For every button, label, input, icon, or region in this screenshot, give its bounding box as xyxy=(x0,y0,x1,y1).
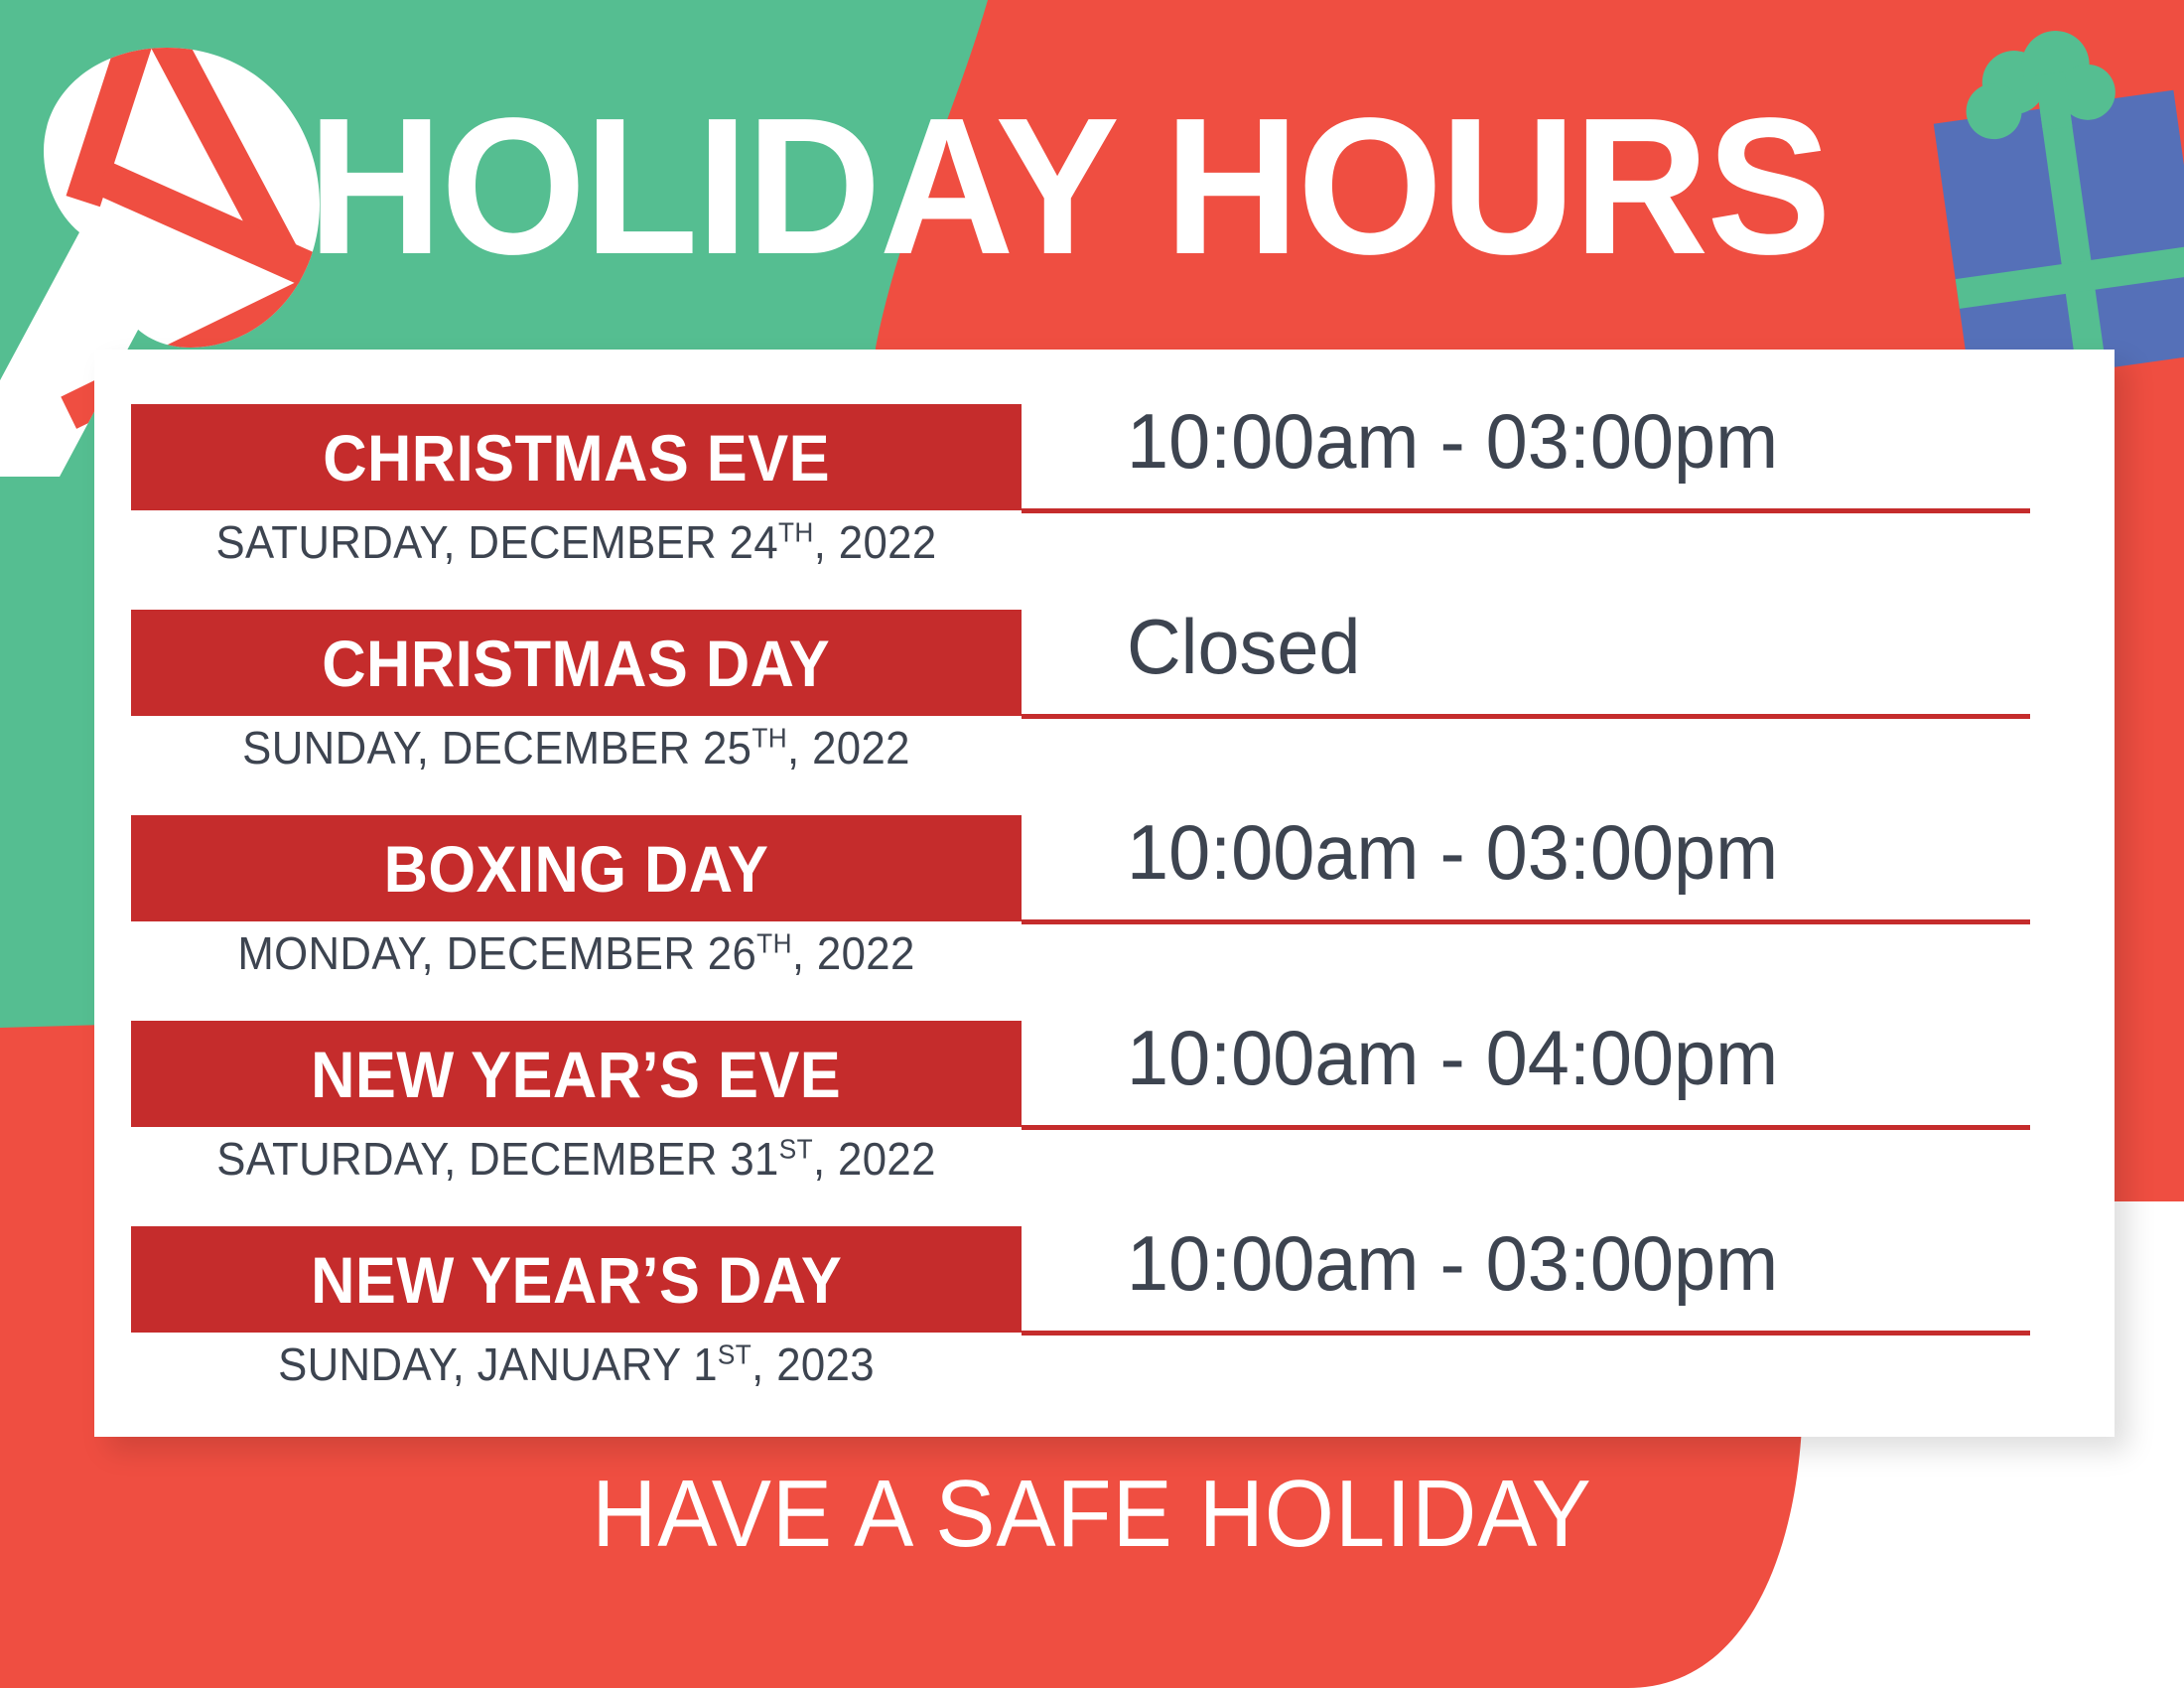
schedule-row: BOXING DAYMONDAY, DECEMBER 26TH, 202210:… xyxy=(94,815,2115,1021)
holiday-hours: 10:00am - 03:00pm xyxy=(1127,396,1778,487)
holiday-date: SUNDAY, DECEMBER 25TH, 2022 xyxy=(153,721,999,774)
holiday-hours: 10:00am - 03:00pm xyxy=(1127,1218,1778,1309)
holiday-hours-poster: HOLIDAY HOURS CHRISTMAS EVESATURDAY, DEC… xyxy=(0,0,2184,1688)
holiday-label-bar: BOXING DAY xyxy=(131,815,1022,921)
holiday-name: CHRISTMAS DAY xyxy=(323,626,831,701)
date-year: , 2022 xyxy=(814,516,937,568)
date-prefix: SATURDAY, DECEMBER 31 xyxy=(216,1133,779,1185)
date-ordinal-suffix: ST xyxy=(779,1134,813,1165)
footer-message: HAVE A SAFE HOLIDAY xyxy=(66,1460,2118,1569)
date-ordinal-suffix: TH xyxy=(756,928,792,959)
holiday-date: SATURDAY, DECEMBER 24TH, 2022 xyxy=(153,515,999,569)
hours-underline xyxy=(1022,919,2030,924)
date-ordinal-suffix: TH xyxy=(751,723,787,754)
holiday-hours: Closed xyxy=(1127,602,1361,692)
date-prefix: MONDAY, DECEMBER 26 xyxy=(237,927,756,979)
holiday-name: NEW YEAR’S DAY xyxy=(311,1242,842,1318)
date-year: , 2022 xyxy=(813,1133,936,1185)
hours-underline xyxy=(1022,508,2030,513)
hours-underline xyxy=(1022,714,2030,719)
holiday-name: NEW YEAR’S EVE xyxy=(311,1037,841,1112)
holiday-label-bar: NEW YEAR’S EVE xyxy=(131,1021,1022,1127)
hours-underline xyxy=(1022,1125,2030,1130)
date-prefix: SUNDAY, DECEMBER 25 xyxy=(242,722,751,774)
holiday-hours: 10:00am - 04:00pm xyxy=(1127,1013,1778,1103)
holiday-name: BOXING DAY xyxy=(384,831,769,907)
date-prefix: SATURDAY, DECEMBER 24 xyxy=(215,516,778,568)
gift-box-icon xyxy=(1931,25,2184,377)
holiday-date: SUNDAY, JANUARY 1ST, 2023 xyxy=(153,1337,999,1391)
date-year: , 2022 xyxy=(787,722,910,774)
schedule-rows: CHRISTMAS EVESATURDAY, DECEMBER 24TH, 20… xyxy=(94,350,2115,1432)
date-year: , 2023 xyxy=(751,1338,875,1390)
holiday-label-bar: NEW YEAR’S DAY xyxy=(131,1226,1022,1333)
holiday-name: CHRISTMAS EVE xyxy=(323,420,830,495)
schedule-row: NEW YEAR’S DAYSUNDAY, JANUARY 1ST, 20231… xyxy=(94,1226,2115,1432)
schedule-row: CHRISTMAS EVESATURDAY, DECEMBER 24TH, 20… xyxy=(94,404,2115,610)
date-prefix: SUNDAY, JANUARY 1 xyxy=(278,1338,718,1390)
page-title: HOLIDAY HOURS xyxy=(308,89,1870,284)
holiday-label-bar: CHRISTMAS DAY xyxy=(131,610,1022,716)
schedule-row: CHRISTMAS DAYSUNDAY, DECEMBER 25TH, 2022… xyxy=(94,610,2115,815)
schedule-card: CHRISTMAS EVESATURDAY, DECEMBER 24TH, 20… xyxy=(94,350,2115,1437)
hours-underline xyxy=(1022,1331,2030,1336)
holiday-label-bar: CHRISTMAS EVE xyxy=(131,404,1022,510)
holiday-date: MONDAY, DECEMBER 26TH, 2022 xyxy=(153,926,999,980)
date-ordinal-suffix: TH xyxy=(778,517,814,548)
date-year: , 2022 xyxy=(792,927,915,979)
holiday-hours: 10:00am - 03:00pm xyxy=(1127,807,1778,898)
schedule-row: NEW YEAR’S EVESATURDAY, DECEMBER 31ST, 2… xyxy=(94,1021,2115,1226)
holiday-date: SATURDAY, DECEMBER 31ST, 2022 xyxy=(153,1132,999,1186)
date-ordinal-suffix: ST xyxy=(718,1339,751,1370)
